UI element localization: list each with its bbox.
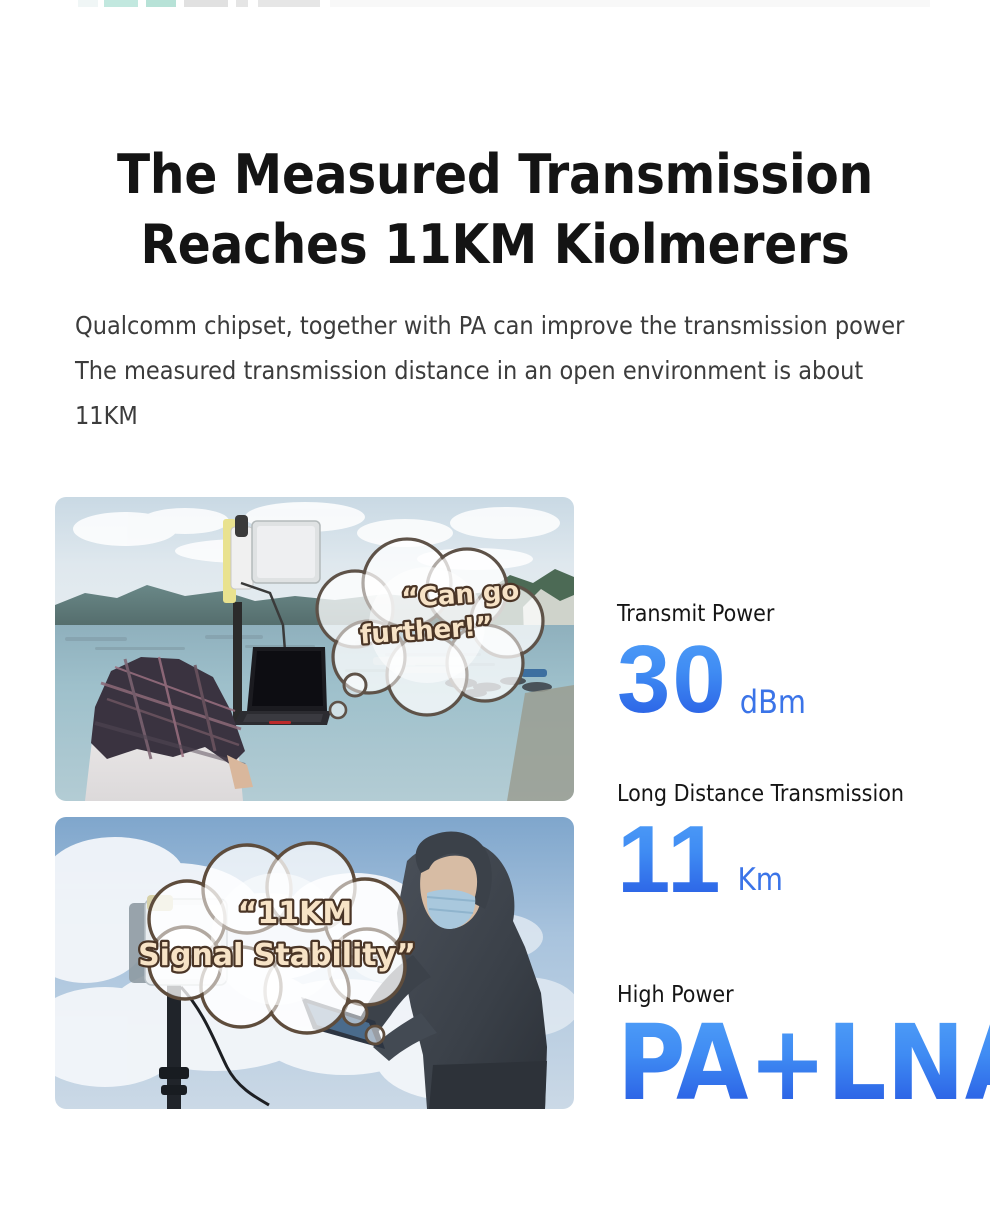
stat-value-row: 11 Km [617, 814, 957, 906]
sliver-fragment [78, 0, 98, 7]
sliver-fragment [104, 0, 138, 7]
stat-unit: dBm [740, 686, 806, 726]
photo-field-test-laptop-coast: “Can go further!” [55, 497, 574, 801]
sliver-fragment [330, 0, 930, 7]
sliver-fragment [146, 0, 176, 7]
feature-panel: The Measured Transmission Reaches 11KM K… [0, 0, 990, 1214]
stat-high-power: High Power PA+LNA [617, 981, 957, 1111]
clipped-section-sliver [0, 0, 990, 7]
photo-field-test-tablet-sky: “11KM Signal Stability” [55, 817, 574, 1109]
page-title: The Measured Transmission Reaches 11KM K… [0, 140, 990, 280]
sliver-fragment [258, 0, 320, 7]
stat-value: PA+LNA [617, 1015, 990, 1111]
sliver-fragment [236, 0, 248, 7]
intro-paragraph: Qualcomm chipset, together with PA can i… [75, 303, 925, 438]
bubble-line: “11KM [238, 896, 353, 931]
stat-transmit-power: Transmit Power 30 dBm [617, 600, 957, 726]
stat-value-row: PA+LNA [617, 1015, 957, 1111]
stat-value: 11 [617, 814, 722, 906]
stat-label: Transmit Power [617, 600, 957, 628]
sliver-fragment [184, 0, 228, 7]
stat-long-distance-transmission: Long Distance Transmission 11 Km [617, 780, 957, 906]
stat-value: 30 [617, 634, 728, 726]
bubble-line: Signal Stability” [138, 938, 416, 973]
stat-unit: Km [737, 864, 782, 906]
stat-label: Long Distance Transmission [617, 780, 957, 808]
stat-value-row: 30 dBm [617, 634, 957, 726]
